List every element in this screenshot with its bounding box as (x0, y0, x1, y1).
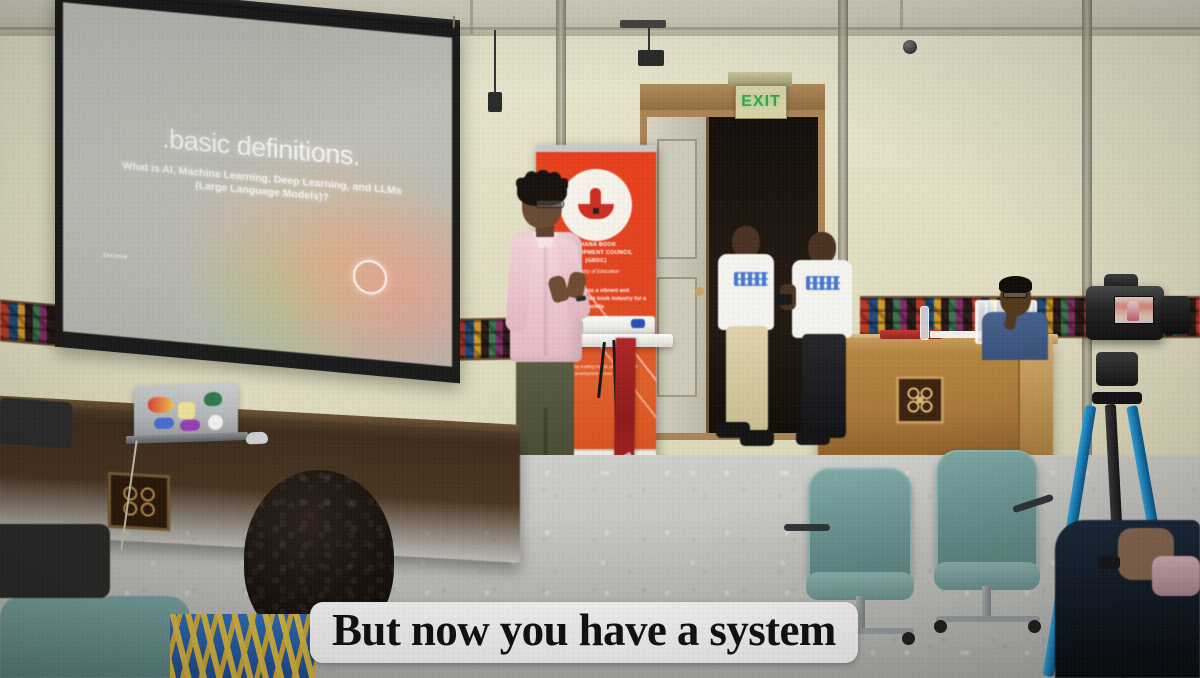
panelist-glasses-icon (1003, 292, 1027, 298)
standing-attendee-left (712, 226, 782, 454)
foreground-attendee-watch-icon (1098, 556, 1120, 569)
laptop[interactable] (134, 382, 238, 438)
patterned-cloth (170, 614, 315, 678)
foreground-dark-object (0, 524, 110, 598)
laptop-sticker-2 (178, 402, 195, 420)
panelist-hair (999, 276, 1032, 292)
presenter-shirt-placket (544, 246, 547, 356)
laptop-sticker-4 (154, 417, 174, 429)
presenter-hair-locs (516, 170, 568, 192)
water-bottle (920, 306, 929, 340)
ceiling-seam-vertical (470, 0, 473, 34)
laptop-sticker-3 (204, 392, 222, 407)
slide-surface: .basic definitions. What is AI, Machine … (63, 2, 452, 366)
laptop-sticker-1 (148, 396, 174, 413)
adinkra-motif-panel (896, 376, 944, 424)
left-desk-adinkra-icon (117, 481, 161, 521)
standing-attendee-right (790, 232, 860, 458)
video-frame: .basic definitions. What is AI, Machine … (0, 0, 1200, 678)
tripod-head[interactable] (1096, 352, 1138, 386)
attendee-tshirt (792, 260, 852, 338)
exit-sign: EXIT (735, 85, 787, 119)
ceiling-device (488, 92, 502, 112)
chair-caster (934, 620, 947, 633)
subtitle-caption: But now you have a system (310, 602, 858, 663)
chair-post (982, 586, 991, 618)
wall-art-border-left (0, 299, 60, 346)
door-knob-icon[interactable] (695, 287, 704, 296)
projection-screen: .basic definitions. What is AI, Machine … (55, 0, 460, 383)
chair-base (936, 616, 1040, 622)
slide-logo: .tecmie (101, 252, 128, 261)
tshirt-graphic (734, 272, 768, 286)
preview-subject (1127, 301, 1139, 321)
attendee-trousers (726, 326, 768, 432)
attendee-shoe-left (796, 430, 830, 445)
ceiling-seam-vertical-2 (900, 0, 903, 30)
computer-mouse[interactable] (246, 432, 268, 445)
chair-caster (902, 632, 915, 645)
tripod-collar (1092, 392, 1142, 404)
cloth-pattern (170, 614, 315, 678)
desk-equipment-case (0, 397, 72, 448)
tshirt-graphic (806, 276, 840, 290)
caption-text: But now you have a system (332, 608, 836, 654)
presenter-glasses-icon (536, 200, 564, 208)
ceiling-wire (494, 30, 496, 98)
smartphone-icon (776, 294, 792, 305)
adinkra-spiral-icon (905, 385, 935, 415)
laptop-sticker-6 (208, 415, 223, 431)
camera-live-preview-screen (1114, 296, 1154, 324)
door-panel-upper (657, 139, 697, 259)
left-desk-adinkra-panel (108, 472, 170, 531)
ceiling-projector-mount (638, 50, 664, 66)
chair-caster (1028, 620, 1041, 633)
camera-lens-icon (1160, 296, 1190, 334)
banner-top-rail (536, 145, 656, 152)
security-camera-icon (903, 40, 917, 54)
laptop-sticker-5 (180, 420, 200, 432)
ceiling-rail (620, 20, 666, 28)
chair-armrest (784, 524, 830, 531)
attendee-trousers (802, 334, 846, 438)
attendee-tshirt (718, 254, 774, 330)
door-transom (640, 84, 825, 112)
chair-backrest (936, 450, 1038, 576)
circle-outline-icon (353, 259, 387, 296)
projector-indicator (631, 319, 645, 328)
attendee-shoe-right (740, 430, 774, 446)
door-leaf[interactable] (647, 117, 709, 433)
exit-sign-hood (728, 72, 792, 86)
foreground-chair[interactable] (0, 596, 190, 678)
exit-sign-label: EXIT (741, 93, 781, 111)
wall-pillar-far-right (1082, 0, 1092, 470)
foreground-attendee-garment (1152, 556, 1200, 596)
